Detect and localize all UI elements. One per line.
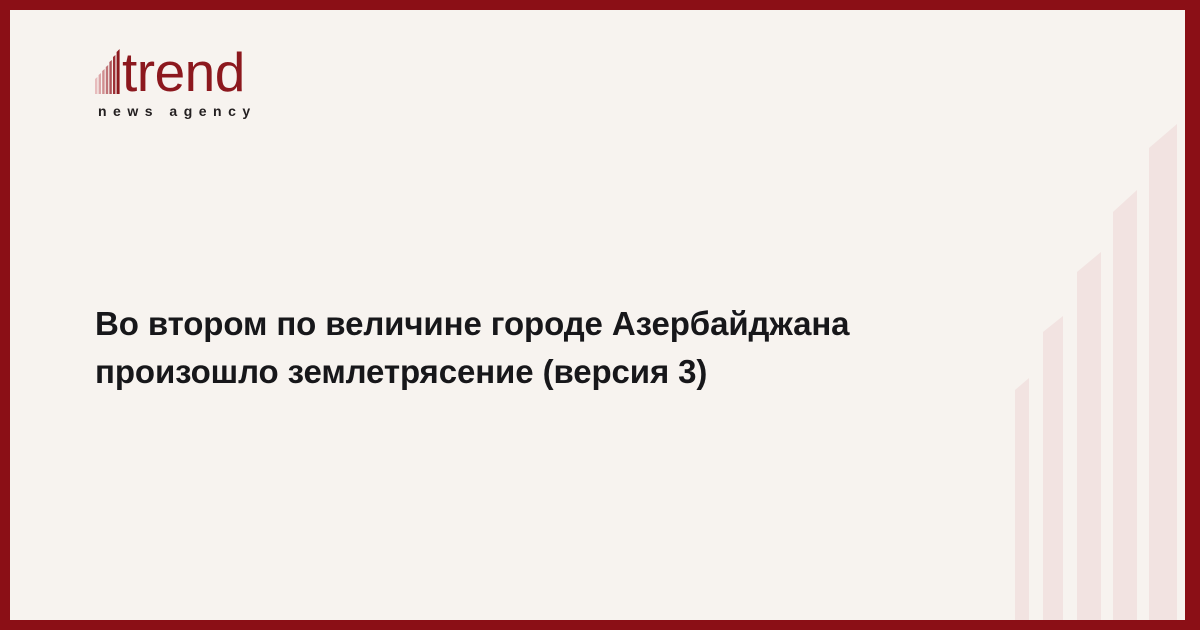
rising-bars-mark-icon: [95, 48, 121, 94]
logo-wordmark: trend: [122, 49, 245, 95]
card-canvas: trend news agency Во втором по величине …: [10, 10, 1185, 620]
deco-bar-5: [1149, 124, 1177, 620]
rising-bars-graphic: [1005, 40, 1185, 620]
deco-bar-2: [1043, 316, 1063, 620]
headline-title: Во втором по величине городе Азербайджан…: [95, 300, 985, 396]
rising-bars-svg: [1005, 40, 1185, 620]
logo-tagline: news agency: [98, 103, 395, 119]
deco-bar-3: [1077, 252, 1101, 620]
logo-mark: trend: [95, 48, 395, 95]
deco-bar-1: [1015, 378, 1029, 620]
social-share-card: trend news agency Во втором по величине …: [0, 0, 1200, 630]
deco-bar-4: [1113, 190, 1137, 620]
site-logo[interactable]: trend news agency: [95, 48, 395, 119]
